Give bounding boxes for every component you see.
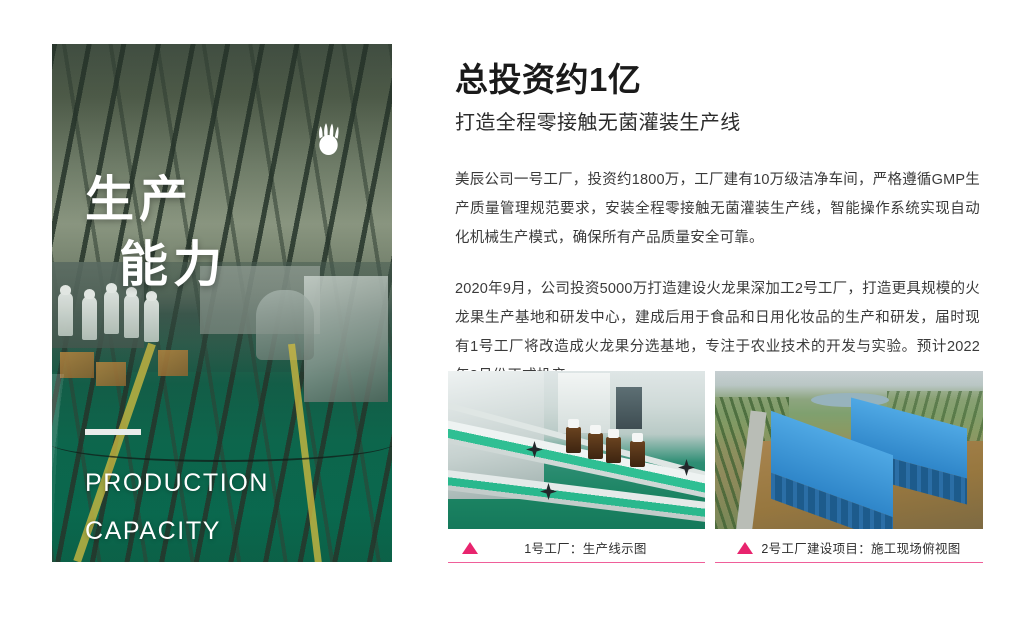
photo-bottle xyxy=(588,433,603,459)
page-subtitle: 打造全程零接触无菌灌装生产线 xyxy=(455,110,980,136)
hero-divider-rule xyxy=(85,429,141,435)
hero-english-line-1: PRODUCTION xyxy=(85,459,269,507)
hero-chinese-line-2: 能力 xyxy=(85,233,227,299)
photo-bottle xyxy=(566,427,581,453)
hero-chinese-line-1: 生产 xyxy=(85,173,193,227)
hero-photo-worker xyxy=(58,292,73,336)
photo-caption-1: 1号工厂：生产线示图 xyxy=(448,538,705,563)
photo-row: 1号工厂：生产线示图 2号工厂建设项目：施工现场俯视图 xyxy=(448,371,983,563)
triangle-marker-icon xyxy=(462,542,478,554)
photo-caption-2: 2号工厂建设项目：施工现场俯视图 xyxy=(715,538,983,563)
hero-panel: 生产 能力 PRODUCTION CAPACITY xyxy=(52,44,392,562)
page-title: 总投资约1亿 xyxy=(455,60,980,100)
photo-cell-factory-2: 2号工厂建设项目：施工现场俯视图 xyxy=(715,371,983,563)
photo-caption-2-text: 2号工厂建设项目：施工现场俯视图 xyxy=(761,538,960,557)
hero-photo-machine-right-2 xyxy=(256,290,314,360)
hero-english-line-2: CAPACITY xyxy=(85,507,269,555)
photo-control-panel xyxy=(558,373,610,433)
photo-caption-1-text: 1号工厂：生产线示图 xyxy=(524,538,646,557)
triangle-marker-icon xyxy=(737,542,753,554)
dragon-fruit-icon xyxy=(315,122,342,156)
photo-bottle xyxy=(606,437,621,463)
body-paragraph-1: 美辰公司一号工厂，投资约1800万，工厂建有10万级洁净车间，严格遵循GMP生产… xyxy=(455,166,980,253)
content-column: 总投资约1亿 打造全程零接触无菌灌装生产线 美辰公司一号工厂，投资约1800万，… xyxy=(455,60,980,391)
photo-bottle xyxy=(630,441,645,467)
photo-control-screen xyxy=(616,387,642,429)
hero-chinese-heading: 生产 能力 xyxy=(85,102,227,365)
photo-cell-factory-1: 1号工厂：生产线示图 xyxy=(448,371,705,563)
photo-aerial-construction xyxy=(715,371,983,529)
photo-production-line xyxy=(448,371,705,529)
hero-english-heading: PRODUCTION CAPACITY xyxy=(85,459,269,555)
